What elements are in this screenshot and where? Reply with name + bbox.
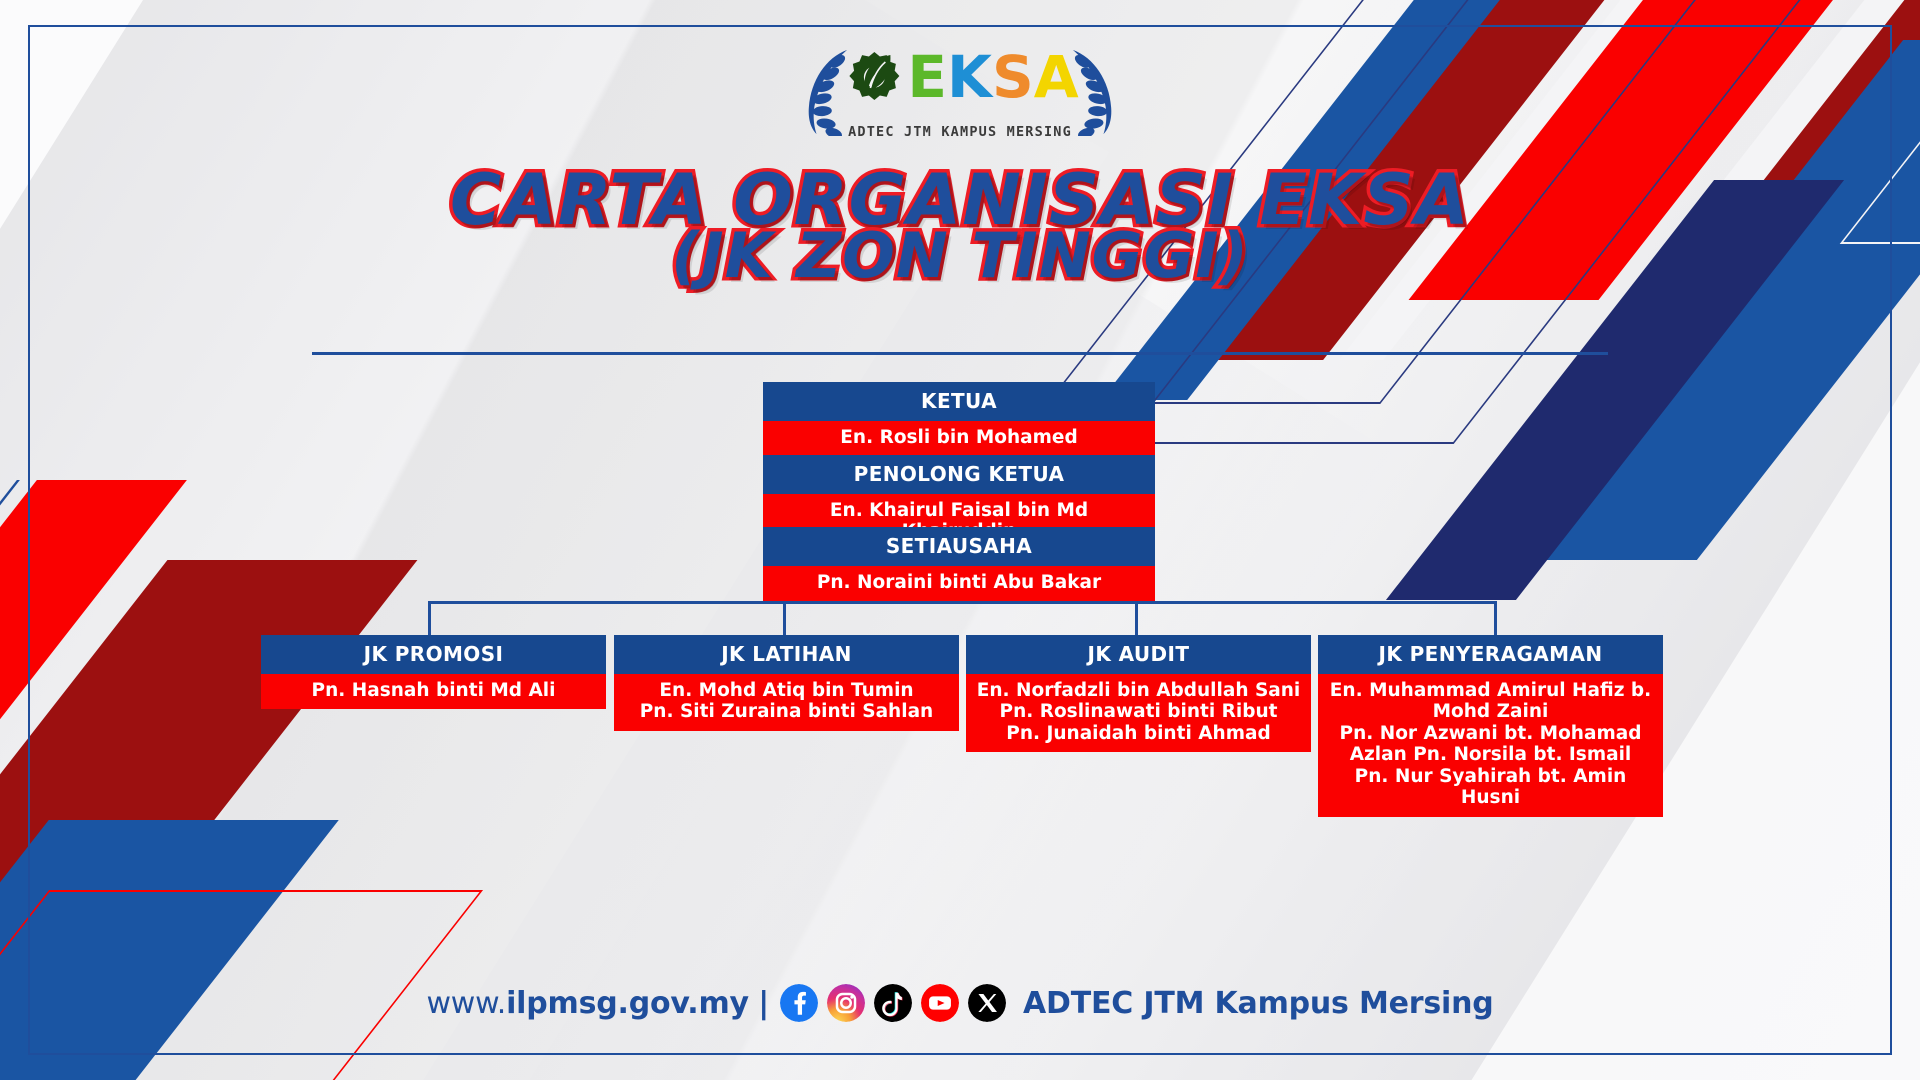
- connector-drop-audit: [1135, 601, 1138, 636]
- node-jk-penyeragaman-role: JK PENYERAGAMAN: [1318, 635, 1663, 674]
- node-jk-latihan-role: JK LATIHAN: [614, 635, 959, 674]
- youtube-icon[interactable]: [921, 984, 959, 1022]
- node-ketua-members: En. Rosli bin Mohamed: [763, 421, 1155, 456]
- node-setiausaha-role: SETIAUSAHA: [763, 527, 1155, 566]
- node-jk-audit[interactable]: JK AUDIT En. Norfadzli bin Abdullah Sani…: [966, 635, 1311, 752]
- url-separator: |: [758, 986, 769, 1021]
- node-ketua[interactable]: KETUA En. Rosli bin Mohamed: [763, 382, 1155, 456]
- connector-drop-promosi: [428, 601, 431, 636]
- node-jk-promosi[interactable]: JK PROMOSI Pn. Hasnah binti Md Ali: [261, 635, 606, 709]
- node-setiausaha-members: Pn. Noraini binti Abu Bakar: [763, 566, 1155, 601]
- x-icon[interactable]: [968, 984, 1006, 1022]
- node-jk-audit-role: JK AUDIT: [966, 635, 1311, 674]
- node-jk-penyeragaman[interactable]: JK PENYERAGAMAN En. Muhammad Amirul Hafi…: [1318, 635, 1663, 817]
- poster-canvas: E K S A ADTEC JTM KAMPUS MERSING CARTA O…: [0, 0, 1920, 1080]
- url-prefix: www.: [426, 986, 506, 1021]
- organization-name: ADTEC JTM Kampus Mersing: [1023, 986, 1494, 1021]
- facebook-icon[interactable]: [780, 984, 818, 1022]
- node-jk-promosi-role: JK PROMOSI: [261, 635, 606, 674]
- social-links: [780, 984, 1006, 1022]
- node-jk-latihan[interactable]: JK LATIHAN En. Mohd Atiq bin Tumin Pn. S…: [614, 635, 959, 731]
- footer-bar: www.ilpmsg.gov.my |: [0, 984, 1920, 1022]
- connector-drop-penyeragaman: [1494, 601, 1497, 636]
- node-jk-audit-members: En. Norfadzli bin Abdullah Sani Pn. Rosl…: [966, 674, 1311, 752]
- node-penolong-ketua-role: PENOLONG KETUA: [763, 455, 1155, 494]
- org-chart: KETUA En. Rosli bin Mohamed PENOLONG KET…: [0, 0, 1920, 1080]
- instagram-icon[interactable]: [827, 984, 865, 1022]
- url-domain: ilpmsg.gov.my: [506, 986, 749, 1021]
- tiktok-icon[interactable]: [874, 984, 912, 1022]
- website-url[interactable]: www.ilpmsg.gov.my |: [426, 986, 769, 1021]
- node-setiausaha[interactable]: SETIAUSAHA Pn. Noraini binti Abu Bakar: [763, 527, 1155, 601]
- node-jk-penyeragaman-members: En. Muhammad Amirul Hafiz b. Mohd Zaini …: [1318, 674, 1663, 817]
- node-jk-promosi-members: Pn. Hasnah binti Md Ali: [261, 674, 606, 709]
- node-ketua-role: KETUA: [763, 382, 1155, 421]
- connector-drop-latihan: [783, 601, 786, 636]
- node-jk-latihan-members: En. Mohd Atiq bin Tumin Pn. Siti Zuraina…: [614, 674, 959, 731]
